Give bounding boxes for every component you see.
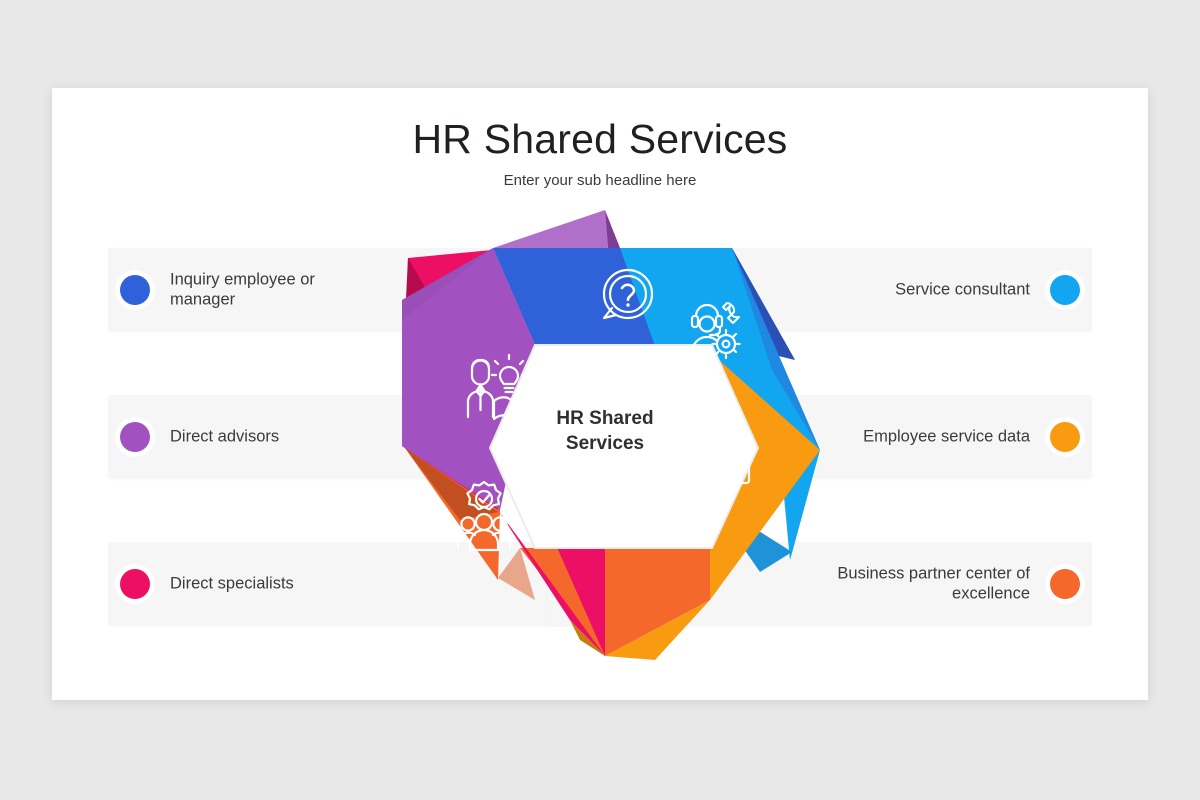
slide-canvas: HR Shared Services Enter your sub headli… xyxy=(0,0,1200,800)
legend-dot-direct-specialists xyxy=(120,569,150,599)
page-title: HR Shared Services xyxy=(52,116,1148,163)
legend-dot-inquiry xyxy=(120,275,150,305)
fold-flap-purple xyxy=(493,210,608,248)
legend-dot-service-consultant xyxy=(1050,275,1080,305)
legend-dot-employee-service-data xyxy=(1050,422,1080,452)
hexagon-diagram: HR Shared Services xyxy=(380,200,830,670)
slide: HR Shared Services Enter your sub headli… xyxy=(52,88,1148,700)
page-subtitle: Enter your sub headline here xyxy=(52,172,1148,189)
legend-dot-business-partner xyxy=(1050,569,1080,599)
legend-dot-direct-advisors xyxy=(120,422,150,452)
